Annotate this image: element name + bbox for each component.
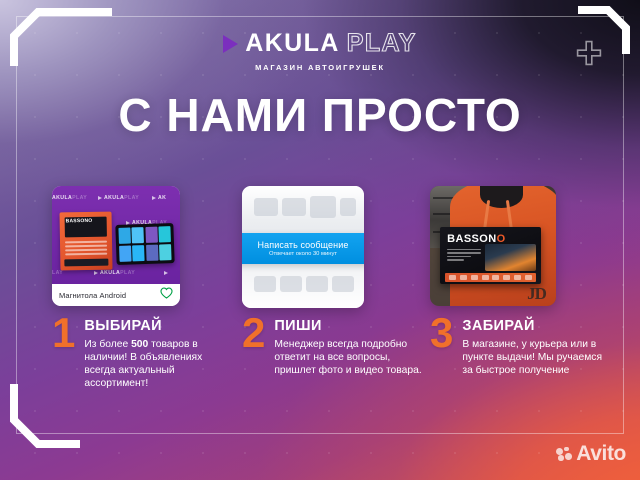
brand-tagline: МАГАЗИН АВТОИГРУШЕК [0,63,640,72]
avito-dots-icon [556,447,573,462]
product-box-label: BASSONO [66,218,93,224]
box-brand-primary: BASSON [447,233,496,245]
brand-logo: AKULA PLAY МАГАЗИН АВТОИГРУШЕК [0,31,640,72]
steps-row: 1 ВЫБИРАЙ Из более 500 товаров в наличии… [0,318,640,428]
avito-label: Avito [576,442,626,466]
step-text-before: Менеджер всегда подробно ответит на все … [274,339,421,376]
step-text-before: Из более [84,339,131,350]
write-message-label: Написать сообщение [258,240,349,250]
watermark-primary: AKULA [52,195,72,201]
reply-time-label: Отвечает около 30 минут [269,251,337,257]
write-message-button[interactable]: Написать сообщение Отвечает около 30 мин… [242,233,364,264]
cards-row: AKULAPLAY AKULAPLAY AK AKULAPLAY AKULAPL… [0,186,640,308]
step-title: ПИШИ [274,319,422,334]
step-number: 3 [430,316,453,377]
chat-card[interactable]: Написать сообщение Отвечает около 30 мин… [242,186,364,308]
step-text: Менеджер всегда подробно ответит на все … [274,338,422,378]
pickup-photo: BASSONO JD [430,186,556,306]
step-item: 2 ПИШИ Менеджер всегда подробно ответит … [242,318,422,377]
step-text: Из более 500 товаров в наличии! В объявл… [84,338,232,391]
avito-watermark: Avito [556,442,626,466]
step-item: 1 ВЫБИРАЙ Из более 500 товаров в наличии… [52,318,232,390]
watermark-secondary: PLAY [72,195,87,201]
box-brand-accent: O [497,233,506,245]
plus-icon [576,40,602,66]
step-title: ЗАБИРАЙ [462,319,610,334]
listing-photo: AKULAPLAY AKULAPLAY AK AKULAPLAY AKULAPL… [52,186,180,284]
step-number: 1 [52,316,75,390]
page-title: С НАМИ ПРОСТО [0,92,640,138]
car-headunit-screen [115,223,174,265]
listing-title: Магнитола Android [59,291,126,300]
promo-banner: AKULA PLAY МАГАЗИН АВТОИГРУШЕК С НАМИ ПР… [0,0,640,480]
heart-icon[interactable] [160,286,173,304]
step-item: 3 ЗАБИРАЙ В магазине, у курьера или в пу… [430,318,610,377]
pickup-card[interactable]: BASSONO JD [430,186,556,306]
step-text-before: В магазине, у курьера или в пункте выдач… [462,339,602,376]
step-text-bold: 500 [131,339,148,350]
box-watermark: JD [527,284,546,304]
step-number: 2 [242,316,265,377]
play-triangle-icon [223,35,238,53]
brand-name-primary: AKULA [245,31,340,56]
product-box: BASSONO [59,212,112,271]
step-text: В магазине, у курьера или в пункте выдач… [462,338,610,378]
listing-card[interactable]: AKULAPLAY AKULAPLAY AK AKULAPLAY AKULAPL… [52,186,180,306]
step-title: ВЫБИРАЙ [84,319,232,334]
brand-name-secondary: PLAY [347,31,417,56]
